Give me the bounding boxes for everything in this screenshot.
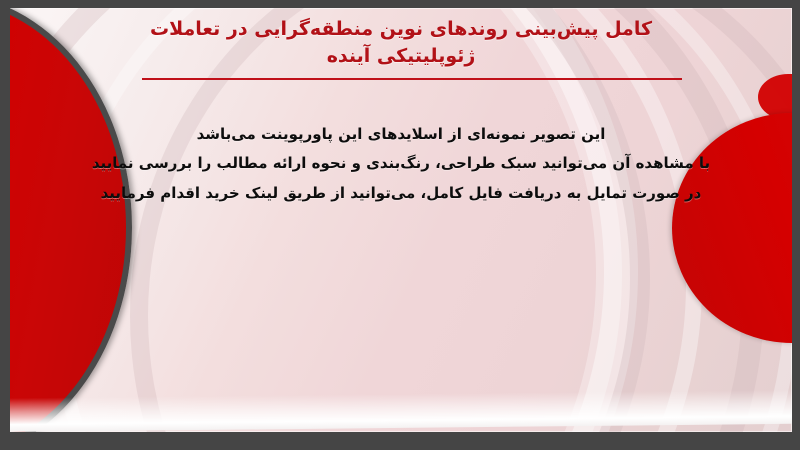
left-red-ellipse-shape bbox=[10, 8, 132, 432]
title-line-1: کامل پیش‌بینی روندهای نوین منطقه‌گرایی د… bbox=[32, 16, 770, 43]
presentation-slide: کامل پیش‌بینی روندهای نوین منطقه‌گرایی د… bbox=[0, 0, 800, 450]
body-line-3: در صورت تمایل به دریافت فایل کامل، می‌تو… bbox=[50, 179, 752, 208]
body-line-2: با مشاهده آن می‌توانید سبک طراحی، رنگ‌بن… bbox=[50, 149, 752, 178]
title-underline-rule bbox=[142, 78, 682, 80]
title-line-2: ژئوپلیتیکی آینده bbox=[32, 43, 770, 70]
slide-canvas: کامل پیش‌بینی روندهای نوین منطقه‌گرایی د… bbox=[10, 8, 792, 432]
body-line-1: این تصویر نمونه‌ای از اسلایدهای این پاور… bbox=[50, 120, 752, 149]
slide-title: کامل پیش‌بینی روندهای نوین منطقه‌گرایی د… bbox=[10, 16, 792, 70]
slide-body: این تصویر نمونه‌ای از اسلایدهای این پاور… bbox=[10, 120, 792, 208]
bottom-white-band bbox=[10, 390, 792, 432]
